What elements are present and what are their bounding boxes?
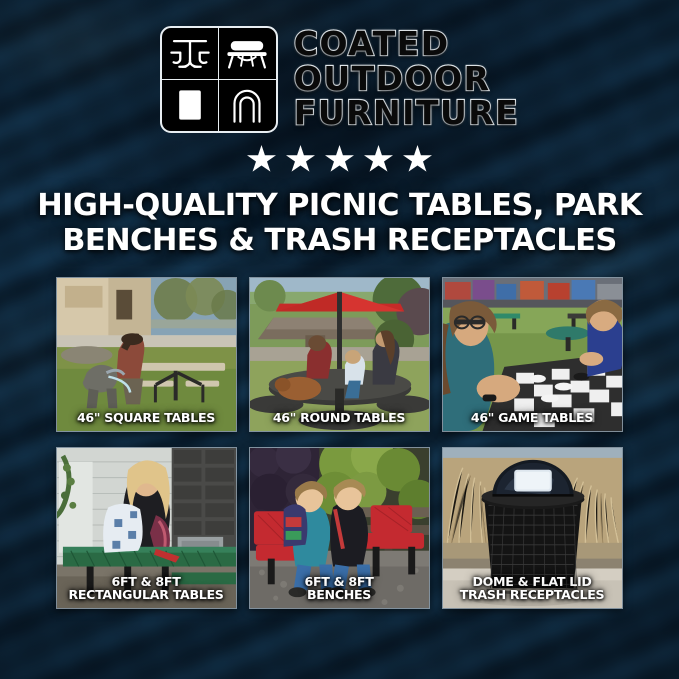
banner-content: COATED OUTDOOR FURNITURE HIGH-QUALITY PI… xyxy=(0,0,679,679)
product-tile-benches[interactable]: 6FT & 8FT BENCHES xyxy=(249,447,430,609)
product-caption-game-tables: 46" GAME TABLES xyxy=(443,411,622,424)
headline-line-2: BENCHES & TRASH RECEPTACLES xyxy=(28,223,651,258)
bike-rack-arch-icon xyxy=(219,80,276,132)
star-icon xyxy=(325,145,354,174)
caption-line-1: 46" ROUND TABLES xyxy=(253,411,426,424)
product-tile-square-tables[interactable]: 46" SQUARE TABLES xyxy=(56,277,237,432)
caption-line-2: TRASH RECEPTACLES xyxy=(446,588,619,601)
wordmark-line-outdoor: OUTDOOR xyxy=(294,62,491,96)
star-icon xyxy=(286,145,315,174)
caption-line-1: 46" SQUARE TABLES xyxy=(60,411,233,424)
product-photo-square-tables xyxy=(57,278,236,431)
product-tile-rectangular-tables[interactable]: 6FT & 8FT RECTANGULAR TABLES xyxy=(56,447,237,609)
product-caption-benches: 6FT & 8FT BENCHES xyxy=(250,575,429,602)
product-tile-game-tables[interactable]: 46" GAME TABLES xyxy=(442,277,623,432)
caption-line-1: 46" GAME TABLES xyxy=(446,411,619,424)
picnic-table-icon xyxy=(162,28,219,80)
park-bench-icon xyxy=(219,28,276,80)
promotional-banner: COATED OUTDOOR FURNITURE HIGH-QUALITY PI… xyxy=(0,0,679,679)
star-icon xyxy=(247,145,276,174)
product-caption-trash-receptacles: DOME & FLAT LID TRASH RECEPTACLES xyxy=(443,575,622,602)
brand-logo: COATED OUTDOOR FURNITURE xyxy=(0,0,679,133)
headline: HIGH-QUALITY PICNIC TABLES, PARK BENCHES… xyxy=(0,188,679,259)
product-tile-trash-receptacles[interactable]: DOME & FLAT LID TRASH RECEPTACLES xyxy=(442,447,623,609)
product-caption-square-tables: 46" SQUARE TABLES xyxy=(57,411,236,424)
star-icon xyxy=(364,145,393,174)
product-caption-round-tables: 46" ROUND TABLES xyxy=(250,411,429,424)
product-photo-game-tables xyxy=(443,278,622,431)
caption-line-2: RECTANGULAR TABLES xyxy=(60,588,233,601)
wordmark-line-coated: COATED xyxy=(294,27,450,61)
coated-outdoor-furniture-logo-icon xyxy=(160,26,278,133)
product-grid: 46" SQUARE TABLES xyxy=(56,277,624,609)
trash-receptacle-icon xyxy=(162,80,219,132)
headline-line-1: HIGH-QUALITY PICNIC TABLES, PARK xyxy=(28,188,651,223)
star-icon xyxy=(403,145,432,174)
wordmark-line-furniture: FURNITURE xyxy=(294,96,519,130)
product-tile-round-tables[interactable]: 46" ROUND TABLES xyxy=(249,277,430,432)
caption-line-2: BENCHES xyxy=(253,588,426,601)
star-rating xyxy=(0,145,679,174)
product-caption-rectangular-tables: 6FT & 8FT RECTANGULAR TABLES xyxy=(57,575,236,602)
brand-wordmark: COATED OUTDOOR FURNITURE xyxy=(294,27,519,133)
product-photo-round-tables xyxy=(250,278,429,431)
